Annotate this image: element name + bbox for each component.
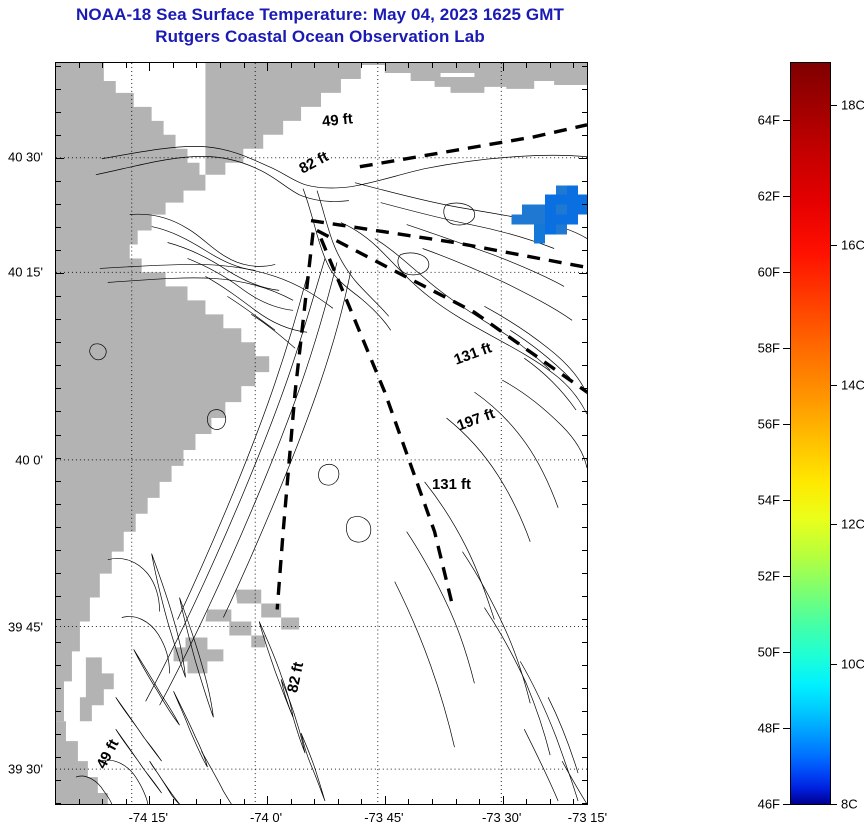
colorbar-label-fahrenheit: 62F [758,188,780,203]
axis-minor-tick [55,665,61,666]
axis-minor-tick [314,62,315,68]
axis-minor-tick [582,550,588,551]
sst-data-cell [556,186,567,195]
axis-minor-tick [432,62,433,68]
axis-minor-tick [55,435,61,436]
sst-data-cell [578,195,587,205]
axis-minor-tick [582,181,588,182]
title-line-1: NOAA-18 Sea Surface Temperature: May 04,… [0,4,640,26]
axis-minor-tick [55,181,61,182]
axis-minor-tick [55,319,61,320]
colorbar-tick-fahrenheit [783,272,790,273]
axis-minor-tick [582,342,588,343]
axis-minor-tick [55,642,61,643]
axis-minor-tick [291,62,292,68]
axis-minor-tick [55,757,61,758]
axis-major-tick [579,273,588,274]
axis-minor-tick [582,112,588,113]
axis-minor-tick [55,204,61,205]
axis-minor-tick [314,799,315,805]
sst-data-cell [567,186,578,196]
axis-minor-tick [244,799,245,805]
axis-major-tick [503,62,504,71]
colorbar-label-celsius: 14C [841,377,864,392]
map-vector-layer: 49 ft82 ft131 ft197 ft131 ft82 ft49 ft [56,63,587,804]
axis-minor-tick [55,112,61,113]
sst-data-cell [556,225,567,235]
colorbar-label-fahrenheit: 60F [758,265,780,280]
axis-minor-tick [55,550,61,551]
y-axis-tick-label: 40 15' [0,265,43,280]
axis-minor-tick [408,62,409,68]
axis-minor-tick [55,342,61,343]
colorbar-tick-fahrenheit [783,728,790,729]
sst-data-cell [534,205,545,215]
axis-minor-tick [582,204,588,205]
axis-minor-tick [173,62,174,68]
axis-major-tick [55,158,64,159]
y-axis-tick-label: 39 30' [0,762,43,777]
axis-minor-tick [582,435,588,436]
axis-minor-tick [55,66,61,67]
x-axis-tick-label: -73 30' [482,810,521,825]
colorbar-tick-celsius [831,245,837,246]
sst-data-cell [567,195,578,205]
sst-data-cell [522,215,534,225]
colorbar-label-fahrenheit: 48F [758,721,780,736]
sst-data-cell [578,205,587,215]
axis-minor-tick [582,665,588,666]
sst-data-cell [556,215,567,225]
colorbar-tick-celsius [831,105,837,106]
axis-minor-tick [55,388,61,389]
axis-minor-tick [220,62,221,68]
sst-data-cell [534,225,545,235]
axis-minor-tick [173,799,174,805]
axis-major-tick [267,796,268,805]
axis-minor-tick [582,135,588,136]
axis-minor-tick [55,135,61,136]
colorbar-label-fahrenheit: 54F [758,493,780,508]
axis-minor-tick [582,66,588,67]
colorbar-gradient [791,63,830,804]
axis-minor-tick [55,481,61,482]
axis-major-tick [503,796,504,805]
sst-data-cell [545,215,556,225]
colorbar-tick-celsius [831,385,837,386]
axis-minor-tick [550,799,551,805]
axis-minor-tick [55,803,61,804]
axis-minor-tick [582,481,588,482]
axis-minor-tick [582,711,588,712]
axis-minor-tick [361,799,362,805]
axis-minor-tick [55,619,61,620]
colorbar-label-fahrenheit: 50F [758,645,780,660]
axis-major-tick [385,62,386,71]
axis-minor-tick [220,799,221,805]
axis-minor-tick [102,62,103,68]
map-canvas: 49 ft82 ft131 ft197 ft131 ft82 ft49 ft [56,63,587,804]
x-axis-tick-label: -74 0' [250,810,282,825]
depth-contour-label: 82 ft [284,661,307,695]
axis-minor-tick [582,803,588,804]
sst-data-cell [522,205,534,215]
axis-minor-tick [55,458,61,459]
title-line-2: Rutgers Coastal Ocean Observation Lab [0,26,640,48]
axis-minor-tick [526,799,527,805]
axis-minor-tick [582,365,588,366]
axis-minor-tick [55,89,61,90]
colorbar-label-celsius: 16C [841,237,864,252]
axis-minor-tick [338,62,339,68]
y-axis-tick-label: 40 30' [0,150,43,165]
colorbar-label-celsius: 12C [841,517,864,532]
axis-minor-tick [582,89,588,90]
axis-minor-tick [582,619,588,620]
sst-data-cells [511,186,587,244]
depth-contour-label: 197 ft [455,405,497,434]
sst-data-cell [545,195,556,205]
axis-minor-tick [244,62,245,68]
axis-minor-tick [55,596,61,597]
transect-lines [277,125,587,610]
axis-minor-tick [55,504,61,505]
axis-minor-tick [582,688,588,689]
axis-major-tick [579,158,588,159]
sst-data-cell [567,215,578,225]
depth-contour-label: 131 ft [452,339,494,368]
axis-minor-tick [582,734,588,735]
axis-minor-tick [582,458,588,459]
sst-data-cell [556,195,567,205]
axis-minor-tick [456,62,457,68]
axis-minor-tick [573,799,574,805]
axis-minor-tick [55,711,61,712]
colorbar-tick-fahrenheit [783,804,790,805]
axis-major-tick [55,273,64,274]
colorbar-label-fahrenheit: 56F [758,417,780,432]
axis-major-tick [385,796,386,805]
axis-minor-tick [582,411,588,412]
temperature-colorbar[interactable]: 64F62F60F58F56F54F52F50F48F46F 18C16C14C… [790,62,831,805]
axis-minor-tick [582,757,588,758]
axis-minor-tick [361,62,362,68]
colorbar-tick-fahrenheit [783,196,790,197]
axis-minor-tick [55,780,61,781]
depth-contour-label: 131 ft [432,476,471,493]
sst-data-cell [545,205,556,215]
colorbar-label-fahrenheit: 58F [758,341,780,356]
colorbar-tick-celsius [831,804,837,805]
axis-minor-tick [55,734,61,735]
axis-major-tick [267,62,268,71]
axis-minor-tick [291,799,292,805]
sst-data-cell [545,225,556,235]
axis-minor-tick [55,688,61,689]
axis-minor-tick [582,780,588,781]
axis-minor-tick [55,227,61,228]
colorbar-tick-celsius [831,664,837,665]
axis-minor-tick [55,365,61,366]
axis-minor-tick [196,62,197,68]
axis-minor-tick [79,799,80,805]
colorbar-tick-fahrenheit [783,576,790,577]
axis-minor-tick [582,504,588,505]
colorbar-tick-fahrenheit [783,652,790,653]
colorbar-label-fahrenheit: 64F [758,113,780,128]
sst-data-cell [556,205,567,215]
axis-minor-tick [573,62,574,68]
colorbar-label-celsius: 10C [841,657,864,672]
axis-major-tick [149,796,150,805]
x-axis-tick-label: -73 45' [364,810,403,825]
axis-minor-tick [479,62,480,68]
sst-data-cell [534,235,545,244]
sst-map-panel[interactable]: 49 ft82 ft131 ft197 ft131 ft82 ft49 ft [55,62,588,805]
axis-minor-tick [582,250,588,251]
x-axis-tick-label: -73 15' [568,810,607,825]
y-axis-tick-label: 39 45' [0,619,43,634]
landmass-layer [56,63,587,804]
axis-minor-tick [126,62,127,68]
colorbar-label-fahrenheit: 46F [758,797,780,812]
axis-minor-tick [196,799,197,805]
axis-minor-tick [79,62,80,68]
axis-minor-tick [582,227,588,228]
axis-minor-tick [582,642,588,643]
sst-data-cell [567,205,578,215]
colorbar-label-fahrenheit: 52F [758,568,780,583]
colorbar-tick-fahrenheit [783,424,790,425]
y-axis-tick-label: 40 0' [0,453,43,468]
axis-minor-tick [582,319,588,320]
axis-minor-tick [526,62,527,68]
axis-minor-tick [408,799,409,805]
axis-minor-tick [582,573,588,574]
axis-minor-tick [456,799,457,805]
sst-data-cell [511,215,522,225]
sst-data-cell [534,215,545,225]
axis-minor-tick [126,799,127,805]
colorbar-tick-celsius [831,524,837,525]
axis-major-tick [149,62,150,71]
axis-minor-tick [55,527,61,528]
axis-minor-tick [582,296,588,297]
depth-contour-label: 49 ft [93,736,122,771]
axis-minor-tick [55,411,61,412]
axis-minor-tick [582,527,588,528]
colorbar-tick-fahrenheit [783,348,790,349]
axis-minor-tick [432,799,433,805]
colorbar-tick-fahrenheit [783,120,790,121]
axis-minor-tick [582,596,588,597]
axis-minor-tick [550,62,551,68]
chart-title-block: NOAA-18 Sea Surface Temperature: May 04,… [0,4,640,48]
depth-contour-label: 49 ft [321,110,353,130]
axis-minor-tick [479,799,480,805]
axis-minor-tick [55,296,61,297]
axis-minor-tick [102,799,103,805]
axis-minor-tick [55,573,61,574]
axis-minor-tick [55,250,61,251]
axis-minor-tick [338,799,339,805]
colorbar-tick-fahrenheit [783,500,790,501]
x-axis-tick-label: -74 15' [129,810,168,825]
colorbar-label-celsius: 18C [841,97,864,112]
colorbar-label-celsius: 8C [841,797,858,812]
axis-minor-tick [582,388,588,389]
depth-contour-label: 82 ft [296,148,331,177]
